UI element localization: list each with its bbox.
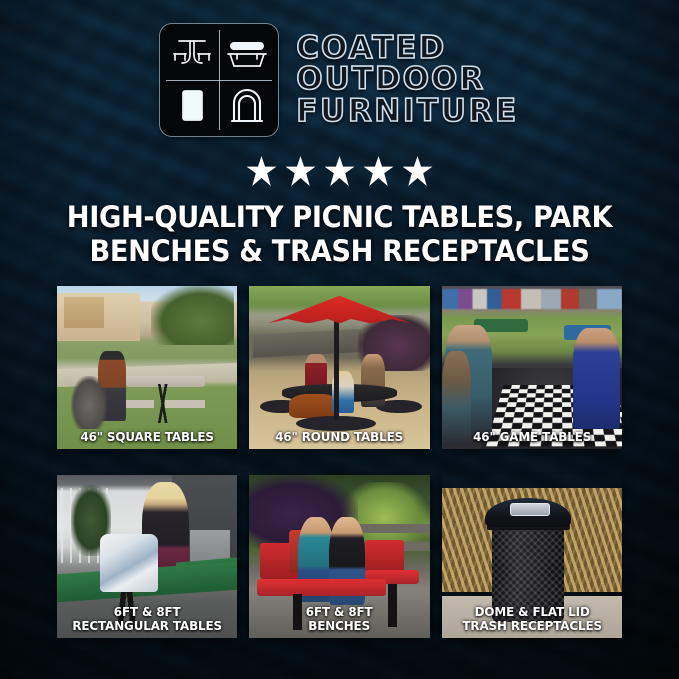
headline-line-2: BENCHES & TRASH RECEPTACLES — [49, 234, 631, 268]
brand-name-line-2: OUTDOOR — [296, 64, 485, 96]
product-grid: 46" SQUARE TABLES 46" ROUND TABLES — [57, 286, 622, 638]
product-caption-line-1: DOME & FLAT LID — [474, 604, 589, 619]
logo-mark — [160, 24, 278, 136]
product-caption-line-1: 6FT & 8FT — [114, 604, 181, 619]
product-tile-rectangular-tables[interactable]: 6FT & 8FT RECTANGULAR TABLES — [57, 475, 237, 638]
headline-line-1: HIGH-QUALITY PICNIC TABLES, PARK — [67, 200, 612, 234]
product-caption-line-2: RECTANGULAR TABLES — [64, 619, 230, 633]
brand-name-line-3: FURNITURE — [296, 96, 518, 128]
park-bench-icon — [220, 29, 274, 80]
picnic-table-icon — [165, 29, 219, 80]
product-photo — [249, 286, 429, 449]
product-caption-line-1: 46" SQUARE TABLES — [80, 429, 213, 444]
star-icon — [247, 156, 277, 186]
product-caption-line-2: TRASH RECEPTACLES — [449, 619, 615, 633]
brand-name-line-1: COATED — [296, 33, 446, 65]
product-tile-game-tables[interactable]: 46" GAME TABLES — [442, 286, 622, 449]
promo-banner: COATED OUTDOOR FURNITURE HIGH-QUALITY PI… — [0, 0, 679, 679]
star-icon — [325, 156, 355, 186]
trash-receptacle-icon — [165, 81, 219, 132]
star-icon — [364, 156, 394, 186]
product-caption: 6FT & 8FT BENCHES — [257, 605, 423, 633]
bike-rack-arch-icon — [220, 81, 274, 132]
product-caption-line-2: BENCHES — [257, 619, 423, 633]
headline: HIGH-QUALITY PICNIC TABLES, PARK BENCHES… — [49, 200, 631, 268]
product-photo — [442, 286, 622, 449]
star-icon — [403, 156, 433, 186]
brand-logo: COATED OUTDOOR FURNITURE — [0, 24, 679, 136]
product-caption: 6FT & 8FT RECTANGULAR TABLES — [64, 605, 230, 633]
product-tile-square-tables[interactable]: 46" SQUARE TABLES — [57, 286, 237, 449]
product-tile-benches[interactable]: 6FT & 8FT BENCHES — [249, 475, 429, 638]
product-caption-line-1: 46" GAME TABLES — [473, 429, 591, 444]
product-caption: 46" SQUARE TABLES — [64, 430, 230, 444]
product-caption: 46" GAME TABLES — [449, 430, 615, 444]
star-icon — [286, 156, 316, 186]
product-caption-line-1: 6FT & 8FT — [306, 604, 373, 619]
product-caption: DOME & FLAT LID TRASH RECEPTACLES — [449, 605, 615, 633]
product-photo — [57, 286, 237, 449]
product-tile-trash-receptacles[interactable]: DOME & FLAT LID TRASH RECEPTACLES — [442, 475, 622, 638]
product-caption-line-1: 46" ROUND TABLES — [276, 429, 404, 444]
product-caption: 46" ROUND TABLES — [257, 430, 423, 444]
product-tile-round-tables[interactable]: 46" ROUND TABLES — [249, 286, 429, 449]
brand-wordmark: COATED OUTDOOR FURNITURE — [296, 33, 518, 128]
star-rating — [0, 156, 679, 186]
